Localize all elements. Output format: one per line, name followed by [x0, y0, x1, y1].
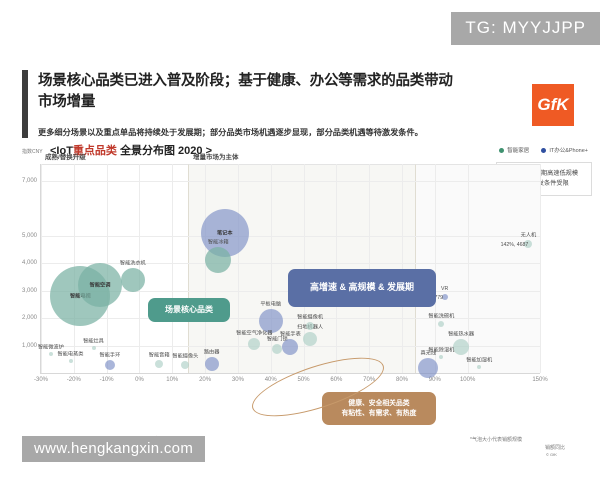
callout-core-categories: 场景核心品类	[148, 298, 230, 322]
x-axis-tick: -10%	[100, 377, 114, 383]
bubble-智能摄像头	[181, 361, 189, 369]
callout-high-growth: 高增速 & 高规模 & 发展期	[288, 269, 436, 307]
page-title: 场景核心品类已进入普及阶段；基于健康、办公等需求的品类带动市场增量	[38, 71, 458, 113]
x-axis-tick: 80%	[396, 377, 408, 383]
y-axis-tick: 1,000	[22, 343, 37, 349]
x-axis-note: 销额同比	[545, 444, 565, 451]
legend-item-it-office: IT办公&Phone+	[541, 146, 588, 154]
point-label-智能热水器: 智能热水器	[448, 330, 474, 337]
x-axis-tick: 20%	[199, 377, 211, 383]
x-axis-tick: 90%	[429, 377, 441, 383]
x-axis-tick: 0%	[135, 377, 144, 383]
legend-item-smart-home: 智能家居	[499, 146, 529, 154]
slide-canvas: 场景核心品类已进入普及阶段；基于健康、办公等需求的品类带动市场增量 更多细分场景…	[0, 62, 600, 412]
y-axis-tick: 5,000	[22, 233, 37, 239]
y-axis-tick: 7,000	[22, 178, 37, 184]
point-label-智能空调: 智能空调	[90, 282, 111, 289]
point-label-路由器: 路由器	[204, 348, 220, 355]
x-axis-tick: 100%	[460, 377, 475, 383]
point-label-智能加湿机: 智能加湿机	[466, 356, 492, 363]
legend-swatch-green	[499, 148, 504, 153]
bubble-智能冰箱	[205, 247, 231, 273]
bubble-智能电蒸类	[69, 359, 73, 363]
callout-health-line2: 有粘性、有需求、有热度	[342, 409, 417, 419]
point-label-智能洗衣机: 智能洗衣机	[120, 259, 146, 266]
point-label-智能微波炉: 智能微波炉	[38, 343, 64, 350]
gfk-logo: GfK	[532, 84, 574, 126]
bubble-智能门锁	[272, 344, 282, 354]
y-gridline	[41, 263, 540, 264]
y-axis-tick: 2,000	[22, 315, 37, 321]
page-subtitle: 更多细分场景以及重点单品将持续处于发展期；部分品类市场机遇逐步显现，部分品类机遇…	[38, 126, 558, 138]
point-label-智能音箱: 智能音箱	[149, 352, 170, 359]
bubble-size-note: *气泡大小代表销额规模	[470, 436, 522, 443]
x-axis-tick: 10%	[166, 377, 178, 383]
point-label-无人机: 无人机	[521, 232, 537, 239]
scatter-plot-area: 成熟/替换升级 增量市场为主体 -30%-20%-10%0%10%20%30%4…	[40, 164, 540, 374]
unit-label: 指数CNY	[22, 148, 43, 155]
point-label-智能洗碗机: 智能洗碗机	[428, 312, 454, 319]
legend-swatch-blue	[541, 148, 546, 153]
x-gridline	[435, 164, 436, 373]
bubble-智能除湿机	[439, 355, 443, 359]
point-label-智能摄像机: 智能摄像机	[297, 314, 323, 321]
x-gridline	[205, 164, 206, 373]
y-axis-tick: 4,000	[22, 260, 37, 266]
band-label-growth: 增量市场为主体	[193, 151, 239, 161]
bubble-智能手表	[282, 339, 298, 355]
x-gridline	[41, 164, 42, 373]
legend-label-smart-home: 智能家居	[507, 146, 529, 154]
bubble-智能洗碗机	[438, 321, 444, 327]
point-label-VR: VR	[441, 286, 448, 292]
title-accent-bar	[22, 70, 28, 138]
x-gridline	[139, 164, 140, 373]
point-label-笔记本: 笔记本	[217, 229, 233, 236]
bubble-真无线	[418, 358, 438, 378]
x-axis-tick: -30%	[34, 377, 48, 383]
point-label-智能摄像头: 智能摄像头	[172, 352, 198, 359]
y-axis-tick: 3,000	[22, 288, 37, 294]
x-gridline	[540, 164, 541, 373]
bubble-智能空气净化器	[248, 338, 260, 350]
x-gridline	[172, 164, 173, 373]
bubble-智能音箱	[155, 360, 163, 368]
x-gridline	[238, 164, 239, 373]
callout-health-line1: 健康、安全相关品类	[348, 399, 409, 409]
bubble-智能灶具	[92, 346, 96, 350]
point-label-智能手表: 智能手表	[280, 330, 301, 337]
x-axis-tick: 30%	[232, 377, 244, 383]
y-gridline	[41, 181, 540, 182]
point-label-智能电蒸类: 智能电蒸类	[58, 351, 84, 358]
site-watermark: www.hengkangxin.com	[22, 436, 205, 462]
legend-label-it-office: IT办公&Phone+	[549, 146, 588, 154]
bubble-智能摄像机	[306, 322, 314, 330]
copyright-note: © GfK	[546, 452, 557, 457]
bubble-智能洗衣机	[121, 268, 145, 292]
x-axis-tick: -20%	[67, 377, 81, 383]
chart-legend: 智能家居 IT办公&Phone+	[499, 146, 588, 154]
point-label-平板电脑: 平板电脑	[260, 300, 281, 307]
tg-watermark-badge: TG: MYYJJPP	[451, 12, 600, 45]
point-label-智能手环: 智能手环	[100, 351, 121, 358]
x-axis-tick: 150%	[532, 377, 547, 383]
point-label-智能冰箱: 智能冰箱	[208, 239, 229, 246]
bubble-智能热水器	[453, 339, 469, 355]
band-label-mature: 成熟/替换升级	[45, 151, 86, 161]
bubble-智能微波炉	[49, 352, 53, 356]
y-gridline	[41, 236, 540, 237]
bubble-扫地机器人	[303, 332, 317, 346]
point-label-智能灶具: 智能灶具	[83, 338, 104, 345]
point-value-无人机: 142%, 4687	[501, 242, 529, 248]
bubble-智能手环	[105, 360, 115, 370]
bubble-智能加湿机	[477, 365, 481, 369]
point-label-真无线: 真无线	[420, 349, 436, 356]
y-gridline	[41, 318, 540, 319]
bubble-路由器	[205, 357, 219, 371]
